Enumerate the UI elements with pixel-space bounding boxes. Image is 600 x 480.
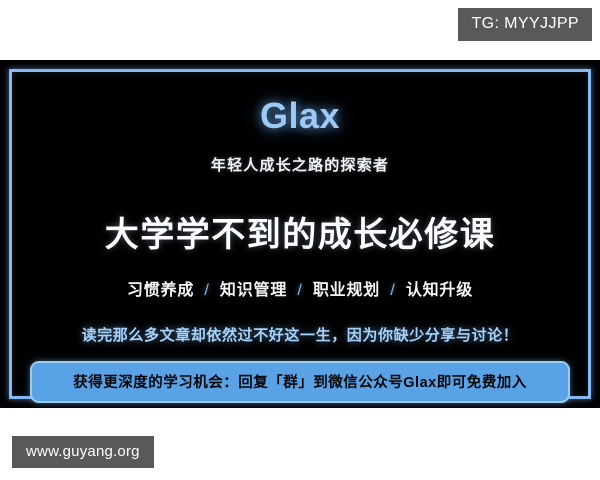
category-list: 习惯养成 / 知识管理 / 职业规划 / 认知升级 xyxy=(127,276,473,300)
category-item-3: 认知升级 xyxy=(406,282,473,299)
category-item-1: 知识管理 xyxy=(220,282,287,299)
category-item-2: 职业规划 xyxy=(313,282,380,299)
telegram-watermark-badge: TG: MYYJJPP xyxy=(458,8,592,41)
category-item-0: 习惯养成 xyxy=(127,282,194,299)
poster-pitch-line: 读完那么多文章却依然过不好这一生，因为你缺少分享与讨论！ xyxy=(82,324,519,345)
cta-banner[interactable]: 获得更深度的学习机会：回复「群」到微信公众号Glax即可免费加入 xyxy=(30,361,570,403)
brand-title: Glax xyxy=(260,98,340,134)
site-url-watermark: www.guyang.org xyxy=(12,436,154,468)
poster-panel: Glax 年轻人成长之路的探索者 大学学不到的成长必修课 习惯养成 / 知识管理… xyxy=(0,60,600,408)
category-separator-1: / xyxy=(292,282,307,299)
category-separator-2: / xyxy=(385,282,400,299)
category-separator-0: / xyxy=(199,282,214,299)
poster-headline: 大学学不到的成长必修课 xyxy=(105,207,496,256)
poster-inner-frame: Glax 年轻人成长之路的探索者 大学学不到的成长必修课 习惯养成 / 知识管理… xyxy=(9,69,591,399)
brand-subtitle: 年轻人成长之路的探索者 xyxy=(211,154,389,175)
